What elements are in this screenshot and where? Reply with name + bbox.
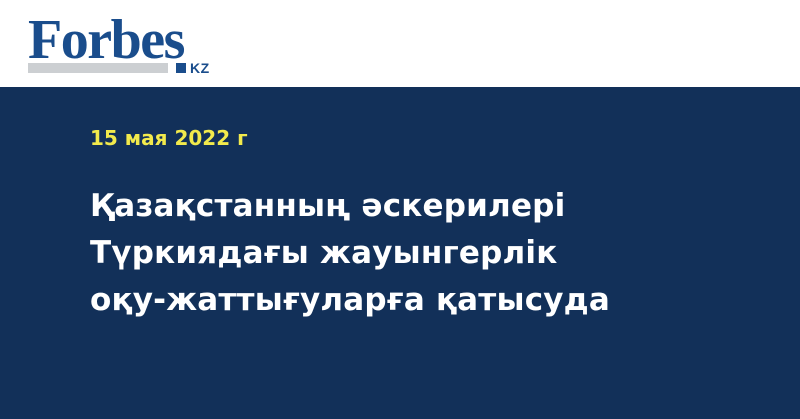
article-headline: Қазақстанның әскерилері Түркиядағы жауын…	[90, 183, 710, 324]
site-header: Forbes KZ	[0, 0, 800, 87]
logo-wordmark: Forbes	[28, 12, 184, 68]
blue-square-icon	[176, 63, 186, 73]
headline-line: Қазақстанның әскерилері	[90, 183, 710, 230]
forbes-kz-logo[interactable]: Forbes KZ	[28, 12, 228, 76]
headline-line: Түркиядағы жауынгерлік	[90, 230, 710, 277]
article-body: 15 мая 2022 г Қазақстанның әскерилері Тү…	[0, 87, 800, 419]
logo-rule-divider	[28, 63, 168, 73]
headline-line: оқу-жаттығуларға қатысуда	[90, 277, 710, 324]
publish-date: 15 мая 2022 г	[90, 126, 248, 150]
article-card: Forbes KZ 15 мая 2022 г Қазақстанның әск…	[0, 0, 800, 419]
logo-domain-suffix: KZ	[190, 61, 210, 75]
